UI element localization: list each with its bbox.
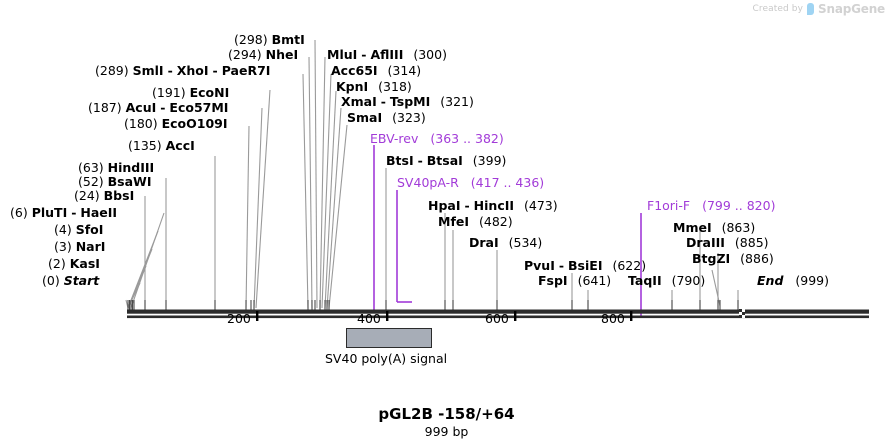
site-label-xmai-tspmi[interactable]: XmaI - TspMI (321) [341,95,474,109]
site-label-bsawi[interactable]: (52) BsaWI [78,175,152,189]
site-label-acci[interactable]: (135) AccI [128,139,195,153]
site-label-ecoo109i[interactable]: (180) EcoO109I [124,117,228,131]
site-label-pvui-bsiei[interactable]: PvuI - BsiEI (622) [524,259,646,273]
site-label-smai[interactable]: SmaI (323) [347,111,426,125]
site-label-econi[interactable]: (191) EcoNI [152,86,229,100]
site-label-bbsi[interactable]: (24) BbsI [74,189,134,203]
site-label-sfoi[interactable]: (4) SfoI [54,223,103,237]
leader-lines-mid [246,40,347,308]
site-label-smli-xhoi-paer7i[interactable]: (289) SmlI - XhoI - PaeR7I [95,64,270,78]
site-label-mfei[interactable]: MfeI (482) [438,215,513,229]
snapgene-watermark: Created by SnapGene [753,2,885,16]
site-label-btgzi[interactable]: BtgZI (886) [692,252,774,266]
watermark-brand-text: SnapGene [818,2,885,16]
feature-box-label-sv40-polya-signal: SV40 poly(A) signal [325,351,447,366]
primer-label-f1ori-f[interactable]: F1ori-F (799 .. 820) [647,199,775,213]
primer-label-ebv-rev[interactable]: EBV-rev (363 .. 382) [370,132,504,146]
site-label-taqii[interactable]: TaqII (790) [628,274,705,288]
ruler-tick-label-800: 800 [601,311,625,326]
site-label-mmei[interactable]: MmeI (863) [673,221,755,235]
site-label-draiii[interactable]: DraIII (885) [686,236,769,250]
site-label-bmti[interactable]: (298) BmtI [234,33,305,47]
site-label-fspi[interactable]: FspI (641) [538,274,611,288]
ruler-ticks [256,311,632,321]
site-label-hindiii[interactable]: (63) HindIII [78,161,154,175]
ruler-tick-label-200: 200 [227,311,251,326]
site-label-drai[interactable]: DraI (534) [469,236,542,250]
origin-marker [739,309,745,318]
site-label-start[interactable]: (0) Start [42,274,99,288]
site-label-acc65i[interactable]: Acc65I (314) [331,64,421,78]
page-title: pGL2B -158/+64 [0,405,893,423]
site-label-hpai-hincii[interactable]: HpaI - HincII (473) [428,199,558,213]
ruler-tick-label-400: 400 [357,311,381,326]
plasmid-map-canvas: Created by SnapGene [0,0,893,445]
site-label-btsi-btsai[interactable]: BtsI - BtsaI (399) [386,154,506,168]
site-label-kasi[interactable]: (2) KasI [48,257,100,271]
site-label-nhei[interactable]: (294) NheI [228,48,298,62]
primer-label-sv40pa-r[interactable]: SV40pA-R (417 .. 436) [397,176,544,190]
snapgene-logo-icon [807,3,814,15]
site-label-end[interactable]: End (999) [757,274,829,288]
primer-marker-sv40pa-r [397,190,412,302]
page-subtitle-length: 999 bp [0,424,893,439]
restriction-site-ticks [128,300,738,311]
site-label-acui-eco57mi[interactable]: (187) AcuI - Eco57MI [88,101,228,115]
site-label-kpni[interactable]: KpnI (318) [336,80,412,94]
site-label-nari[interactable]: (3) NarI [54,240,105,254]
primer-marker-ebv-rev [368,145,374,312]
site-label-mlui-afliii[interactable]: MluI - AflIII (300) [327,48,447,62]
watermark-created-by-text: Created by [753,4,804,14]
ruler-tick-label-600: 600 [485,311,509,326]
feature-box-sv40-polya-signal[interactable] [346,328,432,348]
site-label-pluti-haeii[interactable]: (6) PluTI - HaeII [10,206,117,220]
